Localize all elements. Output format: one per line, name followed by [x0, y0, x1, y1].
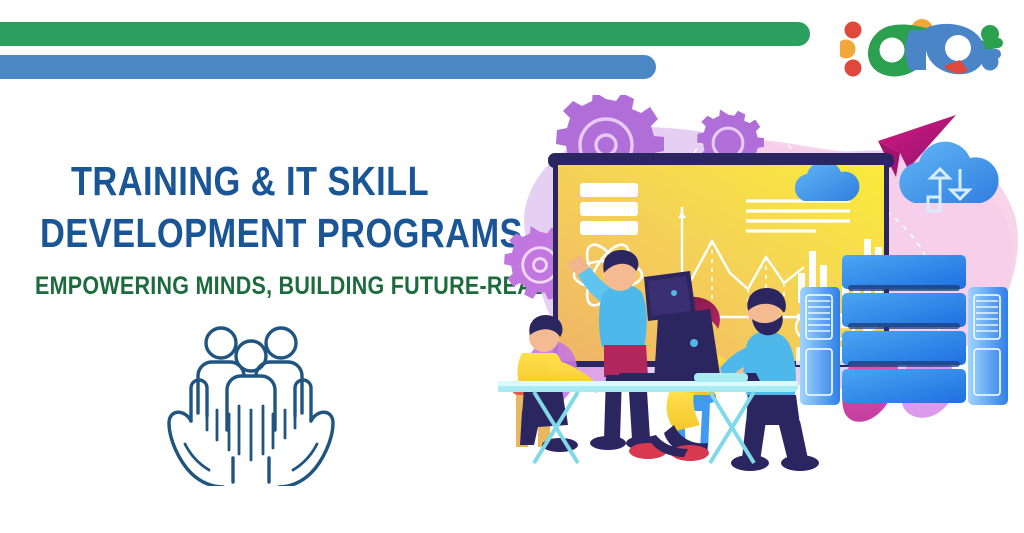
- hand-left-crease: [185, 444, 209, 470]
- right-hip: [746, 395, 800, 425]
- right-shoe-back: [781, 455, 819, 471]
- logo-green-hole: [880, 38, 905, 63]
- logo-dot-red-top: [845, 22, 862, 39]
- server-rack-1: [842, 255, 966, 289]
- stacked-bars-icon: [580, 183, 638, 235]
- logo-dot-red-bottom: [845, 60, 862, 77]
- infinity-loop-logo[interactable]: [840, 18, 1008, 80]
- server-tower-right: [968, 287, 1008, 405]
- presenter-shorts: [604, 345, 648, 377]
- logo-blue-hole: [945, 35, 971, 61]
- presenter-shoe-left: [590, 436, 626, 450]
- desk-top-hi: [498, 381, 798, 386]
- page-subtitle: EMPOWERING MINDS, BUILDING FUTURE-READY …: [35, 271, 465, 301]
- server-rack-4: [842, 369, 966, 403]
- server-rack-2: [842, 293, 966, 327]
- right-leg-front: [742, 421, 766, 461]
- right-leg-back: [778, 421, 808, 461]
- server-tower-left: [800, 287, 840, 405]
- blue-accent-bar: [0, 55, 656, 79]
- strands: [207, 402, 295, 460]
- hand-left-outline: [169, 412, 223, 486]
- presenter-shirt: [599, 285, 647, 347]
- team-training-illustration: [498, 95, 1024, 495]
- logo-blue-wedge: [906, 30, 927, 70]
- banner-root: TRAINING & IT SKILL DEVELOPMENT PROGRAMS…: [0, 0, 1024, 533]
- person-head-right: [266, 328, 296, 358]
- hands-holding-people-icon: [165, 318, 337, 486]
- page-title-line-2: DEVELOPMENT PROGRAMS: [40, 207, 460, 259]
- hand-right-crease: [293, 444, 317, 470]
- hand-right-outline: [279, 412, 333, 486]
- page-title-line-1: TRAINING & IT SKILL: [40, 155, 460, 207]
- person-head-left: [206, 328, 236, 358]
- server-rack-3: [842, 331, 966, 365]
- green-accent-bar: [0, 22, 810, 46]
- headline-block: TRAINING & IT SKILL DEVELOPMENT PROGRAMS…: [0, 155, 500, 301]
- logo-dot-orange: [840, 40, 856, 59]
- desk-keyboard: [694, 373, 748, 382]
